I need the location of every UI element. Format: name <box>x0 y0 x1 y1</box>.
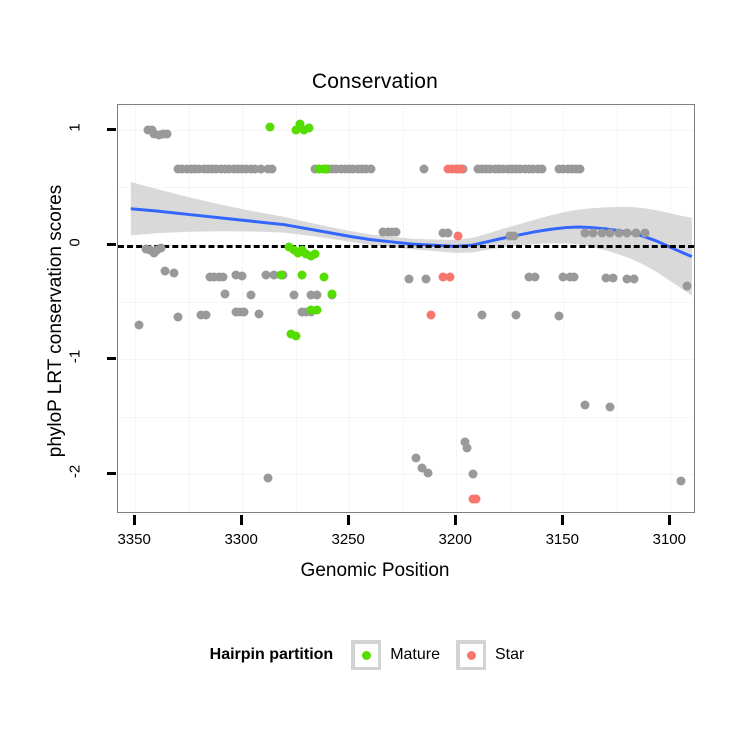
data-point-other <box>462 443 471 452</box>
data-point-other <box>268 165 277 174</box>
data-point-other <box>411 453 420 462</box>
x-axis-tick <box>668 515 671 525</box>
data-point-other <box>161 267 170 276</box>
data-point-other <box>576 165 585 174</box>
x-axis-tick <box>561 515 564 525</box>
legend-key-inner <box>460 644 483 667</box>
y-axis-tick-label: 0 <box>67 222 84 262</box>
data-point-mature <box>321 165 330 174</box>
x-axis-tick-label: 3350 <box>99 531 169 548</box>
legend-items: MatureStar <box>351 640 540 670</box>
legend-item-label: Mature <box>390 646 440 664</box>
x-axis-tick-label: 3250 <box>313 531 383 548</box>
data-point-star <box>426 310 435 319</box>
data-point-other <box>629 275 638 284</box>
data-point-other <box>640 229 649 238</box>
data-point-other <box>289 291 298 300</box>
data-point-mature <box>276 270 285 279</box>
x-axis-tick-label: 3100 <box>634 531 704 548</box>
data-point-other <box>420 165 429 174</box>
legend-item-label: Star <box>495 646 524 664</box>
x-axis-tick-label: 3200 <box>420 531 490 548</box>
legend-key-inner <box>355 644 378 667</box>
data-point-other <box>531 272 540 281</box>
x-axis-tick-label: 3150 <box>527 531 597 548</box>
data-point-mature <box>304 123 313 132</box>
data-point-other <box>405 275 414 284</box>
data-point-mature <box>265 122 274 131</box>
chart-canvas: Conservation phyloP LRT conservation sco… <box>0 0 750 750</box>
y-axis-tick <box>107 128 116 131</box>
data-point-other <box>512 310 521 319</box>
data-point-other <box>569 272 578 281</box>
legend-item-star[interactable]: Star <box>456 640 524 670</box>
data-point-other <box>135 320 144 329</box>
data-point-other <box>608 273 617 282</box>
data-point-mature <box>298 270 307 279</box>
data-point-other <box>424 468 433 477</box>
x-axis-tick-label: 3300 <box>206 531 276 548</box>
data-point-other <box>677 476 686 485</box>
x-axis-title: Genomic Position <box>0 560 750 582</box>
x-axis-tick <box>454 515 457 525</box>
chart-title: Conservation <box>0 70 750 94</box>
data-point-other <box>537 165 546 174</box>
legend-title: Hairpin partition <box>210 646 334 664</box>
y-axis-tick-label: 1 <box>67 108 84 148</box>
data-point-other <box>156 244 165 253</box>
data-point-star <box>445 272 454 281</box>
data-point-mature <box>319 272 328 281</box>
legend-key-box <box>456 640 486 670</box>
data-point-other <box>606 403 615 412</box>
data-point-star <box>471 495 480 504</box>
data-point-star <box>454 231 463 240</box>
data-point-other <box>477 310 486 319</box>
data-point-other <box>366 165 375 174</box>
zero-reference-line <box>118 245 694 248</box>
y-axis-tick <box>107 357 116 360</box>
data-point-other <box>422 275 431 284</box>
legend-dot-icon <box>467 651 476 660</box>
data-point-other <box>238 271 247 280</box>
data-point-other <box>163 129 172 138</box>
data-point-other <box>255 309 264 318</box>
data-point-mature <box>291 332 300 341</box>
data-point-mature <box>328 290 337 299</box>
data-point-other <box>169 269 178 278</box>
data-point-other <box>580 401 589 410</box>
data-point-other <box>201 310 210 319</box>
data-point-other <box>683 282 692 291</box>
legend-item-mature[interactable]: Mature <box>351 640 440 670</box>
legend: Hairpin partition MatureStar <box>0 640 750 670</box>
y-axis-tick-label: -1 <box>67 337 84 377</box>
data-point-other <box>554 311 563 320</box>
y-axis-tick <box>107 243 116 246</box>
x-axis-tick <box>240 515 243 525</box>
data-point-other <box>263 474 272 483</box>
x-axis-tick <box>133 515 136 525</box>
data-point-other <box>173 312 182 321</box>
data-point-other <box>313 291 322 300</box>
x-axis-tick <box>347 515 350 525</box>
data-point-star <box>456 165 465 174</box>
legend-key-box <box>351 640 381 670</box>
data-point-other <box>469 469 478 478</box>
data-point-other <box>510 231 519 240</box>
data-point-other <box>218 272 227 281</box>
data-point-mature <box>313 306 322 315</box>
data-point-other <box>443 229 452 238</box>
data-point-other <box>392 228 401 237</box>
data-point-mature <box>310 249 319 258</box>
y-axis-tick-label: -2 <box>67 451 84 491</box>
plot-panel <box>117 104 695 513</box>
data-point-other <box>221 290 230 299</box>
legend-dot-icon <box>362 651 371 660</box>
data-point-other <box>240 308 249 317</box>
data-point-other <box>246 291 255 300</box>
y-axis-tick <box>107 472 116 475</box>
